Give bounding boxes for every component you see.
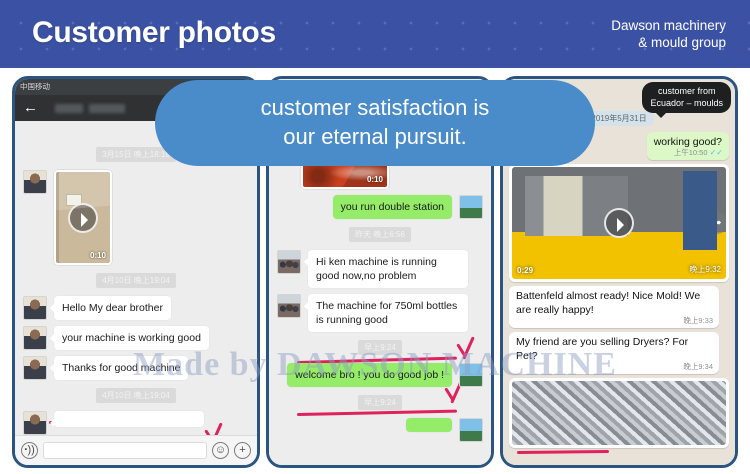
play-icon[interactable] <box>68 203 98 233</box>
date-separator: 昨天 晚上6:56 <box>349 227 411 242</box>
emoji-icon[interactable]: ☺ <box>212 442 229 459</box>
message-timestamp: 晚上9:33 <box>683 314 713 328</box>
avatar <box>277 294 301 318</box>
message-row: Hello My dear brother <box>15 293 257 323</box>
message-bubble[interactable]: you run double station <box>333 195 452 219</box>
date-separator: 早上9:24 <box>358 395 402 410</box>
callout-line-2: Ecuador – moulds <box>650 98 723 110</box>
message-bubble[interactable]: My friend are you selling Dryers? For Pe… <box>509 332 719 374</box>
message-timestamp: 晚上9:34 <box>683 360 713 374</box>
message-row: Battenfeld almost ready! Nice Mold! We a… <box>503 284 735 330</box>
page-header: Customer photos Dawson machinery & mould… <box>0 0 750 68</box>
avatar <box>459 195 483 219</box>
video-duration: 0:29 <box>517 266 533 275</box>
plus-icon[interactable]: + <box>234 442 251 459</box>
speech-bubble-overlay: customer satisfaction is our eternal pur… <box>155 80 595 166</box>
video-thumbnail[interactable]: 0:29 晚上9:32 ➦ <box>509 164 729 282</box>
check-mark-annotation <box>459 335 481 361</box>
voice-icon[interactable]: ꞏ)) <box>21 442 38 459</box>
message-bubble[interactable]: welcome bro ! you do good job ! <box>287 363 452 387</box>
speech-line-2: our eternal pursuit. <box>155 122 595 151</box>
message-bubble[interactable] <box>54 411 204 427</box>
message-timestamp: 晚上9:32 <box>689 264 721 275</box>
video-duration: 0:10 <box>367 175 383 184</box>
annotation-callout: customer from Ecuador – moulds <box>642 82 731 113</box>
message-row: My friend are you selling Dryers? For Pe… <box>503 330 735 376</box>
back-arrow-icon[interactable]: ← <box>23 99 38 117</box>
forward-icon[interactable]: ➦ <box>706 212 728 234</box>
message-row <box>269 415 491 445</box>
brand-line-1: Dawson machinery <box>611 17 726 34</box>
message-row: you run double station <box>269 192 491 222</box>
avatar <box>277 250 301 274</box>
message-text: Battenfeld almost ready! Nice Mold! We a… <box>516 290 700 316</box>
message-bubble[interactable]: working good? 上午10:50 ✓✓ <box>647 132 729 161</box>
message-bubble[interactable] <box>406 418 452 432</box>
avatar <box>23 326 47 350</box>
message-row: 0:10 <box>15 167 257 268</box>
brand-line-2: & mould group <box>611 34 726 51</box>
page-title: Customer photos <box>32 16 276 50</box>
highlight-underline <box>517 450 609 454</box>
message-timestamp: 上午10:50 ✓✓ <box>674 146 723 160</box>
message-bubble[interactable]: Hello My dear brother <box>54 296 171 320</box>
screenshot-gallery: 中国移动 ▣ ▣ ▣ ← 3月15日 晚上18:18 0:10 <box>0 68 750 474</box>
message-text: My friend are you selling Dryers? For Pe… <box>516 336 688 362</box>
date-separator: 4月10日 晚上19:04 <box>96 388 176 403</box>
message-bubble[interactable]: The machine for 750ml bottles is running… <box>308 294 468 332</box>
message-bubble[interactable]: Thanks for good machine <box>54 356 188 380</box>
message-row: The machine for 750ml bottles is running… <box>269 291 491 335</box>
speech-line-1: customer satisfaction is <box>155 93 595 122</box>
date-separator: 早上9:24 <box>358 340 402 355</box>
date-separator: 4月10日 晚上19:04 <box>96 273 176 288</box>
avatar <box>23 356 47 380</box>
read-receipt-icon: ✓✓ <box>710 148 723 157</box>
video-thumbnail[interactable]: 0:10 <box>54 170 112 265</box>
message-row: welcome bro ! you do good job ! <box>269 360 491 390</box>
contact-name-blurred <box>55 104 125 113</box>
brand-name: Dawson machinery & mould group <box>611 17 726 51</box>
avatar <box>459 418 483 442</box>
message-bubble[interactable]: Hi ken machine is running good now,no pr… <box>308 250 468 288</box>
message-row: Thanks for good machine <box>15 353 257 383</box>
message-row: your machine is working good <box>15 323 257 353</box>
message-row <box>15 408 257 435</box>
message-list-left[interactable]: 3月15日 晚上18:18 0:10 4月10日 晚上19:04 Hello M… <box>15 121 257 435</box>
timestamp-text: 上午10:50 <box>674 148 708 157</box>
message-bubble[interactable]: Battenfeld almost ready! Nice Mold! We a… <box>509 286 719 328</box>
chat-input-bar[interactable]: ꞏ)) ☺ + <box>15 435 257 465</box>
avatar <box>23 411 47 435</box>
message-bubble[interactable]: your machine is working good <box>54 326 209 350</box>
photo-attachment[interactable] <box>509 378 729 448</box>
callout-line-1: customer from <box>650 86 723 98</box>
message-row: Hi ken machine is running good now,no pr… <box>269 247 491 291</box>
avatar <box>23 170 47 194</box>
avatar <box>459 363 483 387</box>
video-duration: 0:10 <box>90 251 106 260</box>
message-input[interactable] <box>43 442 207 459</box>
play-icon[interactable] <box>604 208 634 238</box>
carrier-label: 中国移动 <box>20 79 50 95</box>
avatar <box>23 296 47 320</box>
